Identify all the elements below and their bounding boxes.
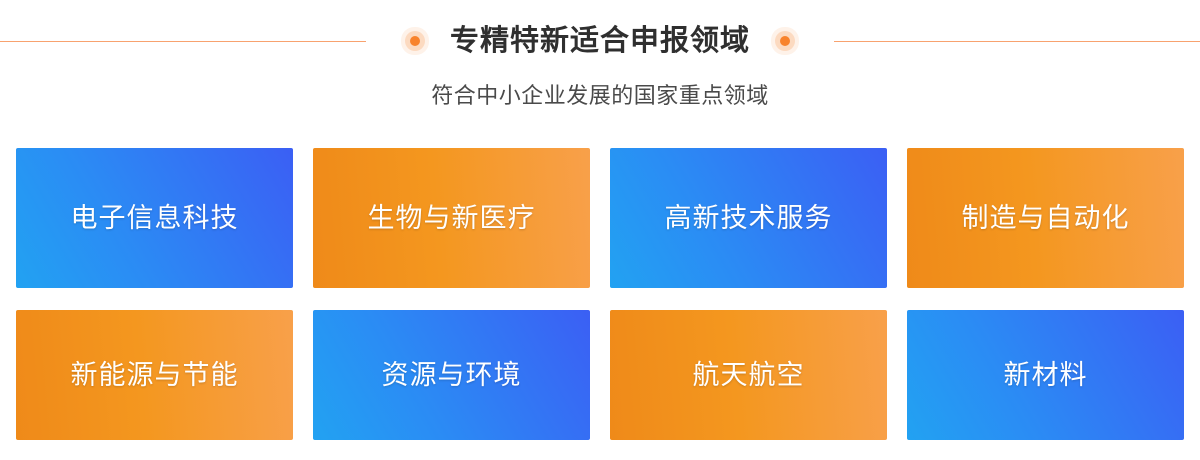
field-card-electronic-information[interactable]: 电子信息科技	[16, 148, 293, 288]
field-card-label: 制造与自动化	[962, 205, 1130, 232]
field-card-label: 电子信息科技	[71, 205, 239, 232]
field-card-label: 资源与环境	[382, 362, 522, 389]
field-card-grid: 电子信息科技 生物与新医疗 高新技术服务 制造与自动化 新能源与节能 资源与环境…	[16, 148, 1184, 450]
field-card-label: 新能源与节能	[71, 362, 239, 389]
orange-dot-icon-right	[780, 36, 790, 46]
section-header: 专精特新适合申报领域 符合中小企业发展的国家重点领域	[0, 0, 1200, 128]
page-title: 专精特新适合申报领域	[450, 27, 750, 56]
field-card-new-energy-saving[interactable]: 新能源与节能	[16, 310, 293, 440]
field-card-aerospace-aviation[interactable]: 航天航空	[610, 310, 887, 440]
field-card-label: 航天航空	[693, 362, 805, 389]
decorative-rule-right	[834, 41, 1200, 42]
field-card-biology-new-medicine[interactable]: 生物与新医疗	[313, 148, 590, 288]
page-subtitle: 符合中小企业发展的国家重点领域	[0, 85, 1200, 107]
declaration-fields-section: 专精特新适合申报领域 符合中小企业发展的国家重点领域 电子信息科技 生物与新医疗…	[0, 0, 1200, 460]
field-card-resource-environment[interactable]: 资源与环境	[313, 310, 590, 440]
decorative-rule-left	[0, 41, 366, 42]
field-card-label: 生物与新医疗	[368, 205, 536, 232]
field-card-high-tech-service[interactable]: 高新技术服务	[610, 148, 887, 288]
field-card-new-materials[interactable]: 新材料	[907, 310, 1184, 440]
field-card-label: 高新技术服务	[665, 205, 833, 232]
field-card-manufacturing-automation[interactable]: 制造与自动化	[907, 148, 1184, 288]
title-row: 专精特新适合申报领域	[0, 18, 1200, 64]
orange-dot-icon-left	[410, 36, 420, 46]
field-card-label: 新材料	[1004, 362, 1088, 389]
